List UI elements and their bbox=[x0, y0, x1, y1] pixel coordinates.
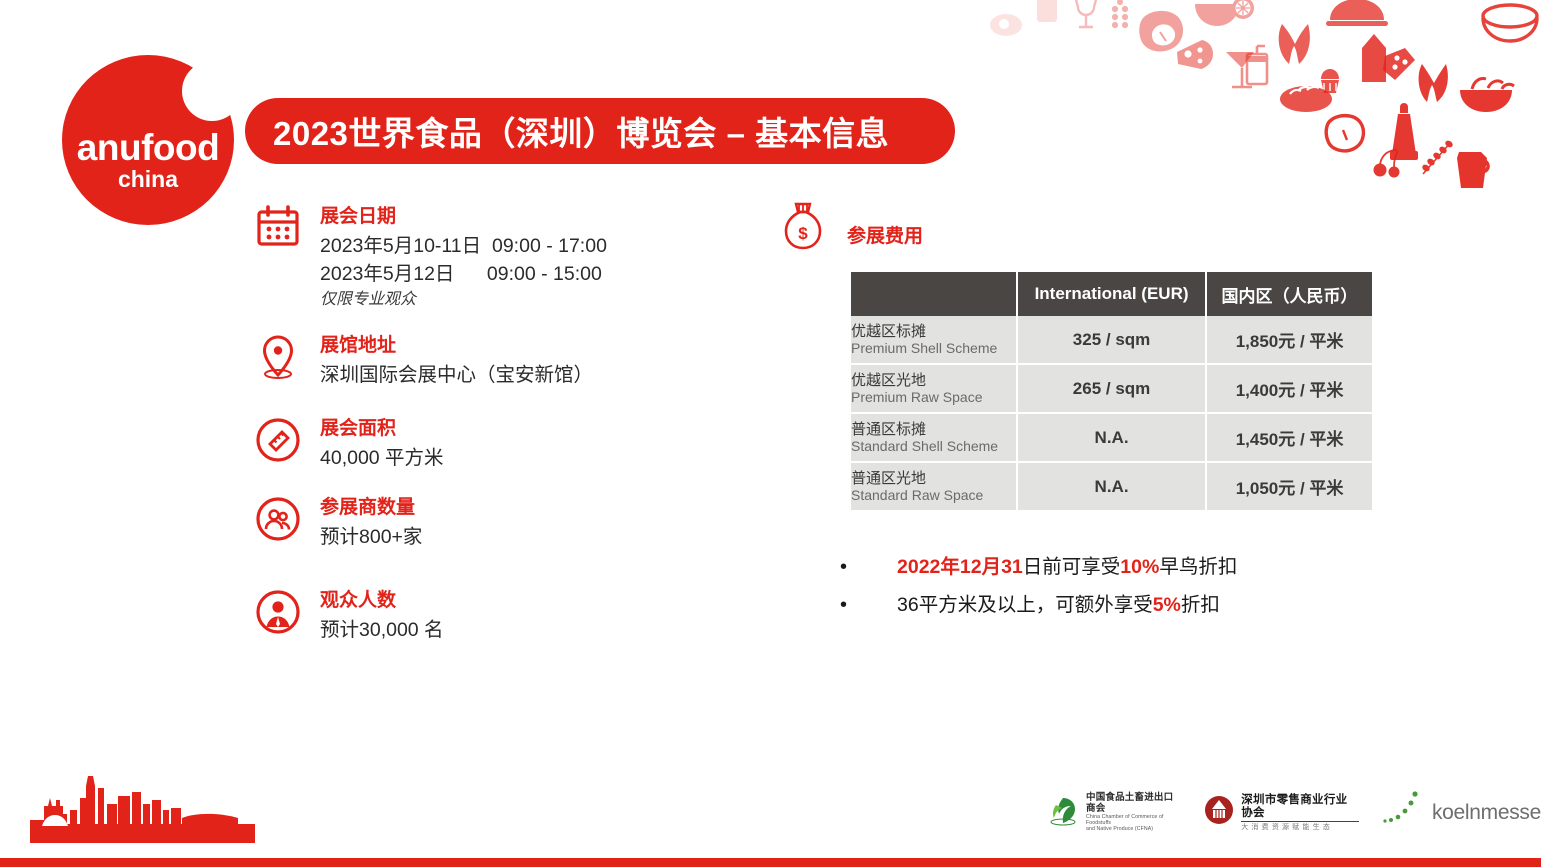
svg-text:$: $ bbox=[798, 224, 808, 243]
money-bag-icon: $ bbox=[775, 200, 831, 252]
bottom-accent-bar bbox=[0, 858, 1541, 867]
ruler-circle-icon bbox=[250, 417, 306, 469]
cell-domestic: 1,050元 / 平米 bbox=[1207, 463, 1372, 510]
info-body: 观众人数 预计30,000 名 bbox=[250, 589, 720, 644]
salad-bowl-icon bbox=[1458, 72, 1518, 114]
row-label: 普通区标摊 Standard Shell Scheme bbox=[851, 414, 1018, 463]
cocktail-glass-icon bbox=[1224, 48, 1260, 92]
info-heading: 展会日期 bbox=[320, 205, 720, 229]
row-label-en: Standard Shell Scheme bbox=[851, 438, 1016, 454]
table-row: 优越区标摊 Premium Shell Scheme 325 / sqm 1,8… bbox=[851, 316, 1372, 365]
row-label-en: Standard Raw Space bbox=[851, 487, 1016, 503]
info-block-dates: 展会日期 2023年5月10-11日 09:00 - 17:00 2023年5月… bbox=[250, 205, 720, 312]
info-line: 2023年5月10-11日 09:00 - 17:00 bbox=[320, 232, 720, 260]
fee-heading: 参展费用 bbox=[847, 221, 923, 248]
info-block-venue: 展馆地址 深圳国际会展中心（宝安新馆） bbox=[250, 334, 720, 389]
table-row: 普通区光地 Standard Raw Space N.A. 1,050元 / 平… bbox=[851, 463, 1372, 510]
szrba-text: 深圳市零售商业行业协会 大消费资源赋能生态 bbox=[1241, 794, 1359, 832]
pepper-mill-icon bbox=[1384, 103, 1424, 165]
row-label-en: Premium Raw Space bbox=[851, 389, 1016, 405]
steak-icon bbox=[1133, 6, 1187, 58]
bullet-part: 日前可享受 bbox=[1023, 556, 1121, 578]
discount-notes: • 2022年12月31日前可享受10%早鸟折扣 • 36平方米及以上，可额外享… bbox=[835, 558, 1395, 633]
city-skyline-silhouette bbox=[30, 758, 255, 843]
pitcher-icon bbox=[1449, 140, 1495, 192]
cell-domestic: 1,450元 / 平米 bbox=[1207, 414, 1372, 463]
steak-icon bbox=[1321, 112, 1367, 154]
fee-table-head: International (EUR) 国内区（人民币） bbox=[851, 272, 1372, 316]
row-label: 优越区标摊 Premium Shell Scheme bbox=[851, 316, 1018, 365]
row-label: 优越区光地 Premium Raw Space bbox=[851, 365, 1018, 414]
cell-international: N.A. bbox=[1018, 463, 1207, 510]
info-block-area: 展会面积 40,000 平方米 bbox=[250, 417, 720, 472]
info-block-exhibitors: 参展商数量 预计800+家 bbox=[250, 496, 720, 551]
info-heading: 展会面积 bbox=[320, 417, 720, 441]
info-block-visitors: 观众人数 预计30,000 名 bbox=[250, 589, 720, 644]
cccfna-text: 中国食品土畜进出口商会 China Chamber of Commerce of… bbox=[1086, 793, 1182, 833]
info-line: 2023年5月12日 09:00 - 15:00 bbox=[320, 260, 720, 288]
person-circle-icon bbox=[250, 589, 306, 641]
cccfna-logo: 中国食品土畜进出口商会 China Chamber of Commerce of… bbox=[1048, 793, 1182, 833]
cccfna-zh: 中国食品土畜进出口商会 bbox=[1086, 793, 1182, 815]
chocolate-bar-icon bbox=[1379, 46, 1419, 84]
bullet-marker: • bbox=[840, 595, 847, 615]
info-note: 仅限专业观众 bbox=[320, 288, 720, 312]
koelnmesse-logo: koelnmesse bbox=[1381, 790, 1541, 837]
list-item: • 36平方米及以上，可额外享受5%折扣 bbox=[835, 596, 1395, 616]
row-label-zh: 普通区标摊 bbox=[851, 421, 1016, 438]
two-people-circle-icon bbox=[250, 496, 306, 548]
page-title: 2023世界食品（深圳）博览会 – 基本信息 bbox=[245, 107, 889, 155]
soup-bowl-icon bbox=[1193, 0, 1257, 32]
partner-logos: 中国食品土畜进出口商会 China Chamber of Commerce of… bbox=[1048, 789, 1541, 837]
koelnmesse-text: koelnmesse bbox=[1432, 801, 1541, 825]
logo-wordmark: anufood bbox=[62, 129, 234, 166]
info-heading: 参展商数量 bbox=[320, 496, 720, 520]
szrba-zh: 深圳市零售商业行业协会 bbox=[1241, 794, 1359, 822]
info-line: 40,000 平方米 bbox=[320, 444, 720, 472]
juice-box-icon bbox=[1243, 44, 1271, 86]
bullet-part: 5% bbox=[1153, 594, 1181, 616]
cccfna-mark-icon bbox=[1048, 795, 1079, 831]
bullet-part: 2022年12月31 bbox=[897, 556, 1023, 578]
muffin-icon bbox=[1315, 65, 1345, 95]
milk-carton-icon bbox=[1358, 32, 1390, 86]
page-title-banner: 2023世界食品（深圳）博览会 – 基本信息 bbox=[245, 98, 955, 164]
wine-glass-icon bbox=[1069, 0, 1103, 30]
fee-table: International (EUR) 国内区（人民币） 优越区标摊 Premi… bbox=[851, 272, 1372, 510]
szrba-sub: 大消费资源赋能生态 bbox=[1241, 822, 1359, 832]
list-item: • 2022年12月31日前可享受10%早鸟折扣 bbox=[835, 558, 1395, 578]
row-label-zh: 优越区光地 bbox=[851, 372, 1016, 389]
szrba-logo: 深圳市零售商业行业协会 大消费资源赋能生态 bbox=[1204, 794, 1359, 832]
cherries-icon bbox=[1371, 148, 1403, 178]
info-body: 展会面积 40,000 平方米 bbox=[250, 417, 720, 472]
bullet-marker: • bbox=[840, 557, 847, 577]
bullet-part: 36平方米及以上，可额外享受 bbox=[897, 594, 1153, 616]
cell-international: N.A. bbox=[1018, 414, 1207, 463]
bread-icon bbox=[1278, 82, 1334, 114]
logo-subword: china bbox=[62, 168, 234, 191]
info-body: 参展商数量 预计800+家 bbox=[250, 496, 720, 551]
info-body: 展馆地址 深圳国际会展中心（宝安新馆） bbox=[250, 334, 720, 389]
location-pin-icon bbox=[250, 334, 306, 386]
info-line: 预计30,000 名 bbox=[320, 616, 720, 644]
logo-bite-cutout bbox=[182, 61, 242, 121]
koelnmesse-dots-icon bbox=[1381, 790, 1425, 837]
cell-domestic: 1,400元 / 平米 bbox=[1207, 365, 1372, 414]
info-body: 展会日期 2023年5月10-11日 09:00 - 17:00 2023年5月… bbox=[250, 205, 720, 312]
fee-section: $ 参展费用 bbox=[775, 200, 1415, 260]
leaf-icon bbox=[1278, 22, 1314, 68]
row-label: 普通区光地 Standard Raw Space bbox=[851, 463, 1018, 510]
cell-international: 265 / sqm bbox=[1018, 365, 1207, 414]
row-label-en: Premium Shell Scheme bbox=[851, 340, 1016, 356]
bullet-part: 折扣 bbox=[1181, 594, 1220, 616]
sunny-side-egg-icon bbox=[989, 12, 1023, 38]
wheat-icon bbox=[1109, 0, 1131, 44]
cloche-icon bbox=[1326, 0, 1388, 28]
calendar-icon bbox=[250, 205, 306, 257]
leaf-icon bbox=[1418, 62, 1452, 106]
pot-icon bbox=[1481, 2, 1539, 46]
column-header-international: International (EUR) bbox=[1018, 272, 1207, 316]
table-header-row: International (EUR) 国内区（人民币） bbox=[851, 272, 1372, 316]
bullet-part: 早鸟折扣 bbox=[1159, 556, 1237, 578]
cheese-icon bbox=[1174, 38, 1216, 70]
szrba-mark-icon bbox=[1204, 795, 1234, 830]
cell-domestic: 1,850元 / 平米 bbox=[1207, 316, 1372, 365]
row-label-zh: 优越区标摊 bbox=[851, 323, 1016, 340]
table-row: 普通区标摊 Standard Shell Scheme N.A. 1,450元 … bbox=[851, 414, 1372, 463]
bullet-part: 10% bbox=[1120, 556, 1159, 578]
column-header-blank bbox=[851, 272, 1018, 316]
fee-heading-row: $ 参展费用 bbox=[775, 200, 1415, 260]
table-row: 优越区光地 Premium Raw Space 265 / sqm 1,400元… bbox=[851, 365, 1372, 414]
column-header-domestic: 国内区（人民币） bbox=[1207, 272, 1372, 316]
cell-international: 325 / sqm bbox=[1018, 316, 1207, 365]
row-label-zh: 普通区光地 bbox=[851, 470, 1016, 487]
info-heading: 展馆地址 bbox=[320, 334, 720, 358]
info-heading: 观众人数 bbox=[320, 589, 720, 613]
fee-table-body: 优越区标摊 Premium Shell Scheme 325 / sqm 1,8… bbox=[851, 316, 1372, 510]
info-line: 预计800+家 bbox=[320, 523, 720, 551]
wheat-icon bbox=[1421, 140, 1457, 184]
jar-icon bbox=[1029, 0, 1065, 24]
anufood-logo: anufood china bbox=[62, 55, 234, 225]
cccfna-en-2: and Native Produce (CFNA) bbox=[1086, 827, 1182, 833]
event-info-list: 展会日期 2023年5月10-11日 09:00 - 17:00 2023年5月… bbox=[250, 205, 720, 670]
info-line: 深圳国际会展中心（宝安新馆） bbox=[320, 361, 720, 389]
